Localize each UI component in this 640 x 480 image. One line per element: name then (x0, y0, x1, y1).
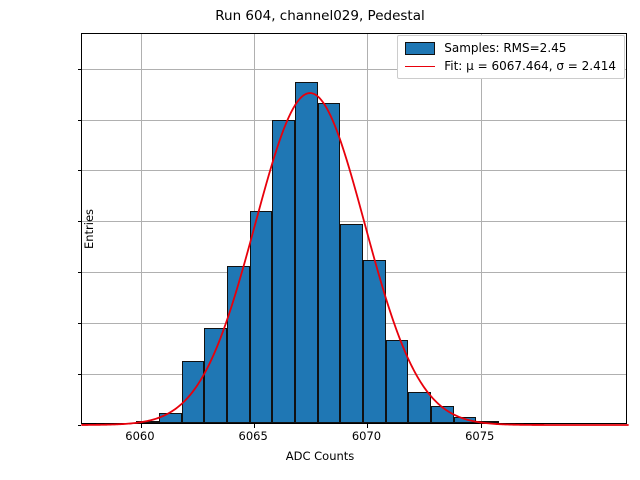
y-tick-mark (78, 272, 82, 273)
legend-label-samples: Samples: RMS=2.45 (444, 41, 566, 55)
legend-swatch-samples-icon (405, 42, 435, 55)
histogram-bar (204, 328, 227, 423)
histogram-bar (476, 421, 499, 423)
y-tick-mark (78, 323, 82, 324)
gridline-vertical (141, 34, 142, 423)
legend-label-fit: Fit: μ = 6067.464, σ = 2.414 (444, 59, 616, 73)
x-tick-label: 6070 (352, 429, 381, 443)
histogram-bar (227, 266, 250, 423)
x-tick-mark (367, 424, 368, 428)
x-tick-label: 6075 (465, 429, 494, 443)
x-tick-label: 6065 (239, 429, 268, 443)
histogram-bar (295, 82, 318, 423)
x-tick-mark (141, 424, 142, 428)
histogram-bar (408, 392, 431, 423)
figure-canvas: Run 604, channel029, Pedestal Samples: R… (0, 0, 640, 480)
gridline-horizontal (82, 120, 626, 121)
gridline-horizontal (82, 170, 626, 171)
histogram-bar (340, 224, 363, 423)
y-tick-mark (78, 221, 82, 222)
y-tick-mark (78, 425, 82, 426)
x-axis-label: ADC Counts (0, 449, 640, 463)
gridline-vertical (481, 34, 482, 423)
histogram-bar (454, 417, 477, 423)
plot-area: Samples: RMS=2.45 Fit: μ = 6067.464, σ =… (81, 33, 627, 424)
x-tick-label: 6060 (125, 429, 154, 443)
gridline-horizontal (82, 221, 626, 222)
legend-swatch-fit-icon (405, 66, 435, 67)
histogram-bar (182, 361, 205, 423)
histogram-bar (272, 120, 295, 423)
histogram-bar (363, 260, 386, 423)
histogram-bar (136, 421, 159, 423)
histogram-bar (386, 340, 409, 423)
histogram-bar (431, 406, 454, 423)
legend-item-samples[interactable]: Samples: RMS=2.45 (405, 41, 616, 55)
x-tick-mark (481, 424, 482, 428)
y-tick-mark (78, 69, 82, 70)
y-tick-mark (78, 374, 82, 375)
y-tick-mark (78, 170, 82, 171)
chart-title: Run 604, channel029, Pedestal (0, 8, 640, 24)
legend-item-fit[interactable]: Fit: μ = 6067.464, σ = 2.414 (405, 59, 616, 73)
histogram-bar (318, 103, 341, 423)
x-tick-mark (254, 424, 255, 428)
y-tick-mark (78, 120, 82, 121)
histogram-bar (159, 413, 182, 423)
histogram-bar (250, 211, 273, 423)
chart-legend[interactable]: Samples: RMS=2.45 Fit: μ = 6067.464, σ =… (397, 35, 625, 79)
